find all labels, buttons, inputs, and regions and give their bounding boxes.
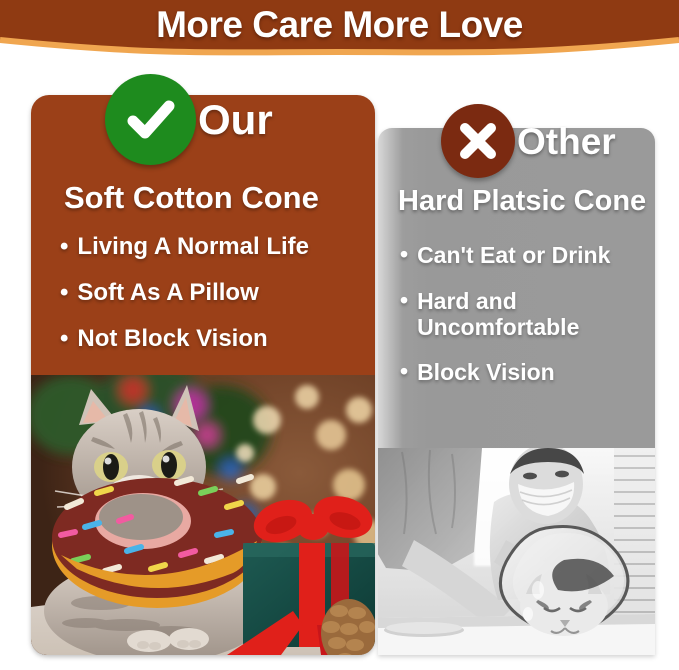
bullet-dot-icon: • bbox=[400, 243, 408, 266]
our-subtitle: Soft Cotton Cone bbox=[64, 182, 319, 213]
x-circle-icon bbox=[441, 104, 515, 178]
list-item-label: Living A Normal Life bbox=[77, 235, 309, 260]
list-item: • Living A Normal Life bbox=[60, 235, 370, 260]
bullet-dot-icon: • bbox=[400, 360, 408, 383]
list-item-label: Can't Eat or Drink bbox=[417, 243, 610, 269]
list-item: • Soft As A Pillow bbox=[60, 281, 370, 306]
bullet-dot-icon: • bbox=[60, 235, 68, 259]
vet-hard-cone-image bbox=[378, 448, 655, 655]
other-heading-label: Other bbox=[517, 123, 616, 160]
product-comparison-graphic: More Care More Love bbox=[0, 0, 679, 670]
cat-with-soft-cone-image bbox=[31, 375, 375, 655]
list-item-label: Hard and Uncomfortable bbox=[417, 289, 579, 341]
list-item: • Not Block Vision bbox=[60, 327, 370, 352]
other-heading-row: Other bbox=[441, 104, 616, 178]
list-item-label: Block Vision bbox=[417, 360, 555, 386]
our-heading-row: Our bbox=[105, 74, 273, 165]
our-product-photo bbox=[31, 375, 375, 655]
header-banner: More Care More Love bbox=[0, 0, 679, 62]
bullet-dot-icon: • bbox=[60, 281, 68, 305]
page-title: More Care More Love bbox=[0, 2, 679, 48]
list-item: • Block Vision bbox=[400, 360, 650, 386]
our-benefits-list: • Living A Normal Life • Soft As A Pillo… bbox=[60, 235, 370, 373]
list-item-label: Not Block Vision bbox=[77, 327, 267, 352]
bullet-dot-icon: • bbox=[60, 327, 68, 351]
list-item: • Can't Eat or Drink bbox=[400, 243, 650, 269]
other-subtitle: Hard Platsic Cone bbox=[398, 187, 646, 216]
our-heading-label: Our bbox=[198, 99, 273, 141]
bullet-dot-icon: • bbox=[400, 289, 408, 312]
check-circle-icon bbox=[105, 74, 196, 165]
other-drawbacks-list: • Can't Eat or Drink • Hard and Uncomfor… bbox=[400, 243, 650, 406]
list-item-label: Soft As A Pillow bbox=[77, 281, 258, 306]
other-product-photo bbox=[378, 448, 655, 655]
list-item: • Hard and Uncomfortable bbox=[400, 289, 650, 341]
